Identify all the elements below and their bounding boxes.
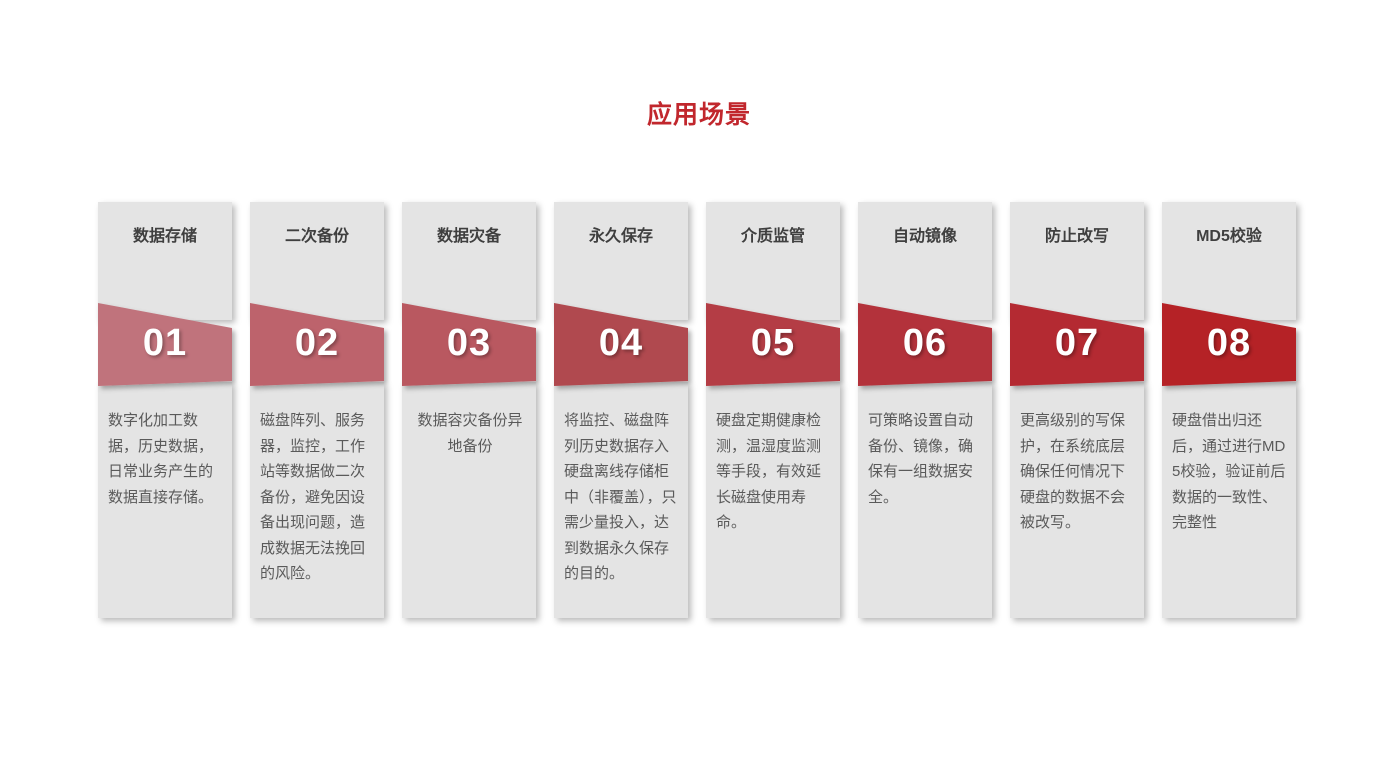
step-header-card: 数据灾备 xyxy=(402,202,536,320)
step-body-card: 磁盘阵列、服务器，监控，工作站等数据做二次备份，避免因设备出现问题，造成数据无法… xyxy=(250,382,384,618)
page-title: 应用场景 xyxy=(0,98,1398,132)
step-heading: 防止改写 xyxy=(1010,226,1144,248)
process-steps-row: 数据存储数字化加工数据，历史数据，日常业务产生的数据直接存储。01二次备份磁盘阵… xyxy=(98,202,1298,622)
step-number: 04 xyxy=(554,320,688,366)
step-header-card: 二次备份 xyxy=(250,202,384,320)
step-body-card: 将监控、磁盘阵列历史数据存入硬盘离线存储柜中（非覆盖），只需少量投入，达到数据永… xyxy=(554,382,688,618)
step-header-card: 永久保存 xyxy=(554,202,688,320)
step-heading: 二次备份 xyxy=(250,226,384,248)
step-heading: 介质监管 xyxy=(706,226,840,248)
slide-canvas: 应用场景 数据存储数字化加工数据，历史数据，日常业务产生的数据直接存储。01二次… xyxy=(0,0,1398,783)
step-header-card: 防止改写 xyxy=(1010,202,1144,320)
step-description: 数据容灾备份异地备份 xyxy=(412,408,528,459)
process-step-03[interactable]: 数据灾备数据容灾备份异地备份03 xyxy=(402,202,536,618)
step-description: 将监控、磁盘阵列历史数据存入硬盘离线存储柜中（非覆盖），只需少量投入，达到数据永… xyxy=(564,408,680,587)
step-heading: 数据存储 xyxy=(98,226,232,248)
process-step-01[interactable]: 数据存储数字化加工数据，历史数据，日常业务产生的数据直接存储。01 xyxy=(98,202,232,618)
process-step-06[interactable]: 自动镜像可策略设置自动备份、镜像，确保有一组数据安全。06 xyxy=(858,202,992,618)
step-body-card: 数字化加工数据，历史数据，日常业务产生的数据直接存储。 xyxy=(98,382,232,618)
step-description: 硬盘定期健康检测，温湿度监测等手段，有效延长磁盘使用寿命。 xyxy=(716,408,832,536)
step-header-card: 数据存储 xyxy=(98,202,232,320)
step-header-card: MD5校验 xyxy=(1162,202,1296,320)
process-step-08[interactable]: MD5校验硬盘借出归还后，通过进行MD5校验，验证前后数据的一致性、完整性08 xyxy=(1162,202,1296,618)
step-description: 数字化加工数据，历史数据，日常业务产生的数据直接存储。 xyxy=(108,408,224,510)
step-heading: MD5校验 xyxy=(1162,226,1296,248)
process-step-04[interactable]: 永久保存将监控、磁盘阵列历史数据存入硬盘离线存储柜中（非覆盖），只需少量投入，达… xyxy=(554,202,688,618)
step-description: 磁盘阵列、服务器，监控，工作站等数据做二次备份，避免因设备出现问题，造成数据无法… xyxy=(260,408,376,587)
step-body-card: 数据容灾备份异地备份 xyxy=(402,382,536,618)
step-body-card: 硬盘定期健康检测，温湿度监测等手段，有效延长磁盘使用寿命。 xyxy=(706,382,840,618)
step-heading: 数据灾备 xyxy=(402,226,536,248)
step-body-card: 可策略设置自动备份、镜像，确保有一组数据安全。 xyxy=(858,382,992,618)
step-description: 硬盘借出归还后，通过进行MD5校验，验证前后数据的一致性、完整性 xyxy=(1172,408,1288,536)
process-step-02[interactable]: 二次备份磁盘阵列、服务器，监控，工作站等数据做二次备份，避免因设备出现问题，造成… xyxy=(250,202,384,618)
step-number: 07 xyxy=(1010,320,1144,366)
step-description: 更高级别的写保护，在系统底层确保任何情况下硬盘的数据不会被改写。 xyxy=(1020,408,1136,536)
step-number: 02 xyxy=(250,320,384,366)
step-number: 05 xyxy=(706,320,840,366)
step-description: 可策略设置自动备份、镜像，确保有一组数据安全。 xyxy=(868,408,984,510)
step-number: 01 xyxy=(98,320,232,366)
step-number: 08 xyxy=(1162,320,1296,366)
step-body-card: 更高级别的写保护，在系统底层确保任何情况下硬盘的数据不会被改写。 xyxy=(1010,382,1144,618)
step-number: 03 xyxy=(402,320,536,366)
step-header-card: 介质监管 xyxy=(706,202,840,320)
process-step-07[interactable]: 防止改写更高级别的写保护，在系统底层确保任何情况下硬盘的数据不会被改写。07 xyxy=(1010,202,1144,618)
step-header-card: 自动镜像 xyxy=(858,202,992,320)
process-step-05[interactable]: 介质监管硬盘定期健康检测，温湿度监测等手段，有效延长磁盘使用寿命。05 xyxy=(706,202,840,618)
step-number: 06 xyxy=(858,320,992,366)
step-heading: 永久保存 xyxy=(554,226,688,248)
step-body-card: 硬盘借出归还后，通过进行MD5校验，验证前后数据的一致性、完整性 xyxy=(1162,382,1296,618)
step-heading: 自动镜像 xyxy=(858,226,992,248)
